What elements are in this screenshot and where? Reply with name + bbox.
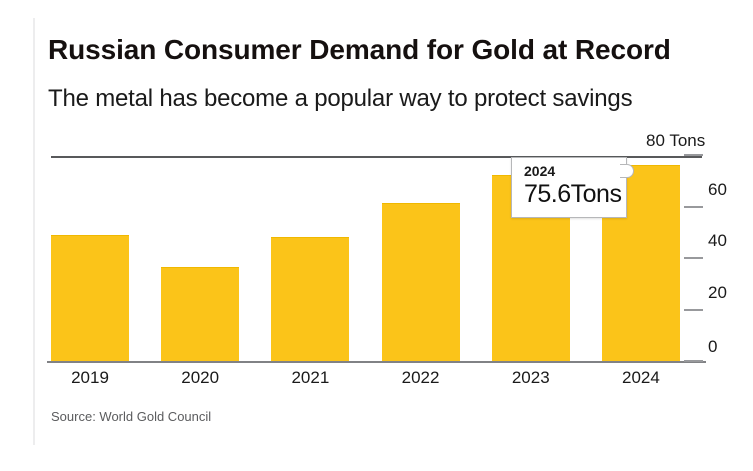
y-tick-mark-40 bbox=[684, 257, 703, 259]
callout-year-label: 2024 bbox=[524, 163, 614, 180]
page-subtitle: The metal has become a popular way to pr… bbox=[48, 84, 738, 114]
y-tick-label-40: 40 bbox=[708, 231, 727, 251]
x-tick-label-2021: 2021 bbox=[271, 367, 349, 391]
source-note: Source: World Gold Council bbox=[51, 408, 211, 425]
bar-slot-2019 bbox=[51, 155, 129, 361]
x-tick-label-2020: 2020 bbox=[161, 367, 239, 391]
y-tick-label-20: 20 bbox=[708, 283, 727, 303]
y-tick-label-0: 0 bbox=[708, 337, 717, 357]
y-axis-top-label: 80 Tons bbox=[646, 131, 705, 151]
bar-2019[interactable] bbox=[51, 235, 129, 361]
y-tick-mark-0 bbox=[684, 360, 703, 362]
x-tick-label-2023: 2023 bbox=[492, 367, 570, 391]
bar-2020[interactable] bbox=[161, 267, 239, 361]
left-margin-rule bbox=[33, 18, 35, 445]
chart-figure: Russian Consumer Demand for Gold at Reco… bbox=[0, 0, 753, 471]
y-tick-mark-20 bbox=[684, 309, 703, 311]
callout-pointer-icon bbox=[620, 164, 634, 178]
y-tick-mark-60 bbox=[684, 206, 703, 208]
y-axis: 80 Tons 60 40 20 0 bbox=[684, 120, 753, 370]
x-tick-label-2022: 2022 bbox=[382, 367, 460, 391]
x-axis: 2019 2020 2021 2022 2023 2024 bbox=[51, 367, 680, 391]
y-tick-label-60: 60 bbox=[708, 180, 727, 200]
bar-2021[interactable] bbox=[271, 237, 349, 361]
bar-slot-2021 bbox=[271, 155, 349, 361]
x-tick-label-2019: 2019 bbox=[51, 367, 129, 391]
y-tick-mark-80 bbox=[684, 154, 703, 156]
zero-baseline bbox=[47, 361, 706, 363]
bar-slot-2020 bbox=[161, 155, 239, 361]
bar-2022[interactable] bbox=[382, 203, 460, 361]
bar-slot-2022 bbox=[382, 155, 460, 361]
callout-value-label: 75.6Tons bbox=[524, 180, 614, 209]
data-callout-tooltip: 2024 75.6Tons bbox=[511, 157, 627, 218]
page-title: Russian Consumer Demand for Gold at Reco… bbox=[48, 33, 738, 67]
x-tick-label-2024: 2024 bbox=[602, 367, 680, 391]
